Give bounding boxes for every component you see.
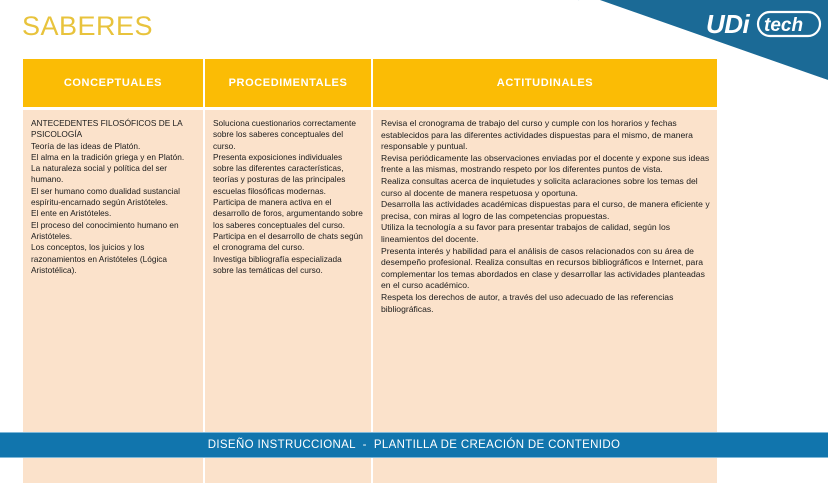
cell-text-conceptuales: ANTECEDENTES FILOSÓFICOS DE LA PSICOLOGÍ…: [31, 118, 196, 276]
column-header-actitudinales: ACTITUDINALES: [373, 59, 717, 107]
cell-text-procedimentales: Soluciona cuestionarios correctamente so…: [213, 118, 364, 276]
table-header-row: CONCEPTUALES PROCEDIMENTALES ACTITUDINAL…: [23, 59, 717, 107]
footer-bar: DISEÑO INSTRUCCIONAL - PLANTILLA DE CREA…: [0, 432, 828, 458]
logo-tech-text: tech: [764, 15, 803, 36]
cell-text-actitudinales: Revisa el cronograma de trabajo del curs…: [381, 118, 710, 315]
footer-text: DISEÑO INSTRUCCIONAL - PLANTILLA DE CREA…: [208, 439, 621, 451]
logo-udi-text: UDi: [706, 9, 751, 39]
page-title: SABERES: [22, 9, 153, 43]
logo-tech-pill: [758, 12, 820, 36]
column-header-conceptuales: CONCEPTUALES: [23, 59, 205, 107]
cell-actitudinales: Revisa el cronograma de trabajo del curs…: [373, 107, 717, 483]
cell-procedimentales: Soluciona cuestionarios correctamente so…: [205, 107, 373, 483]
table-row: ANTECEDENTES FILOSÓFICOS DE LA PSICOLOGÍ…: [23, 107, 717, 483]
column-header-procedimentales: PROCEDIMENTALES: [205, 59, 373, 107]
udi-tech-logo: UDi tech: [706, 9, 820, 39]
saberes-table: CONCEPTUALES PROCEDIMENTALES ACTITUDINAL…: [23, 59, 717, 483]
cell-conceptuales: ANTECEDENTES FILOSÓFICOS DE LA PSICOLOGÍ…: [23, 107, 205, 483]
